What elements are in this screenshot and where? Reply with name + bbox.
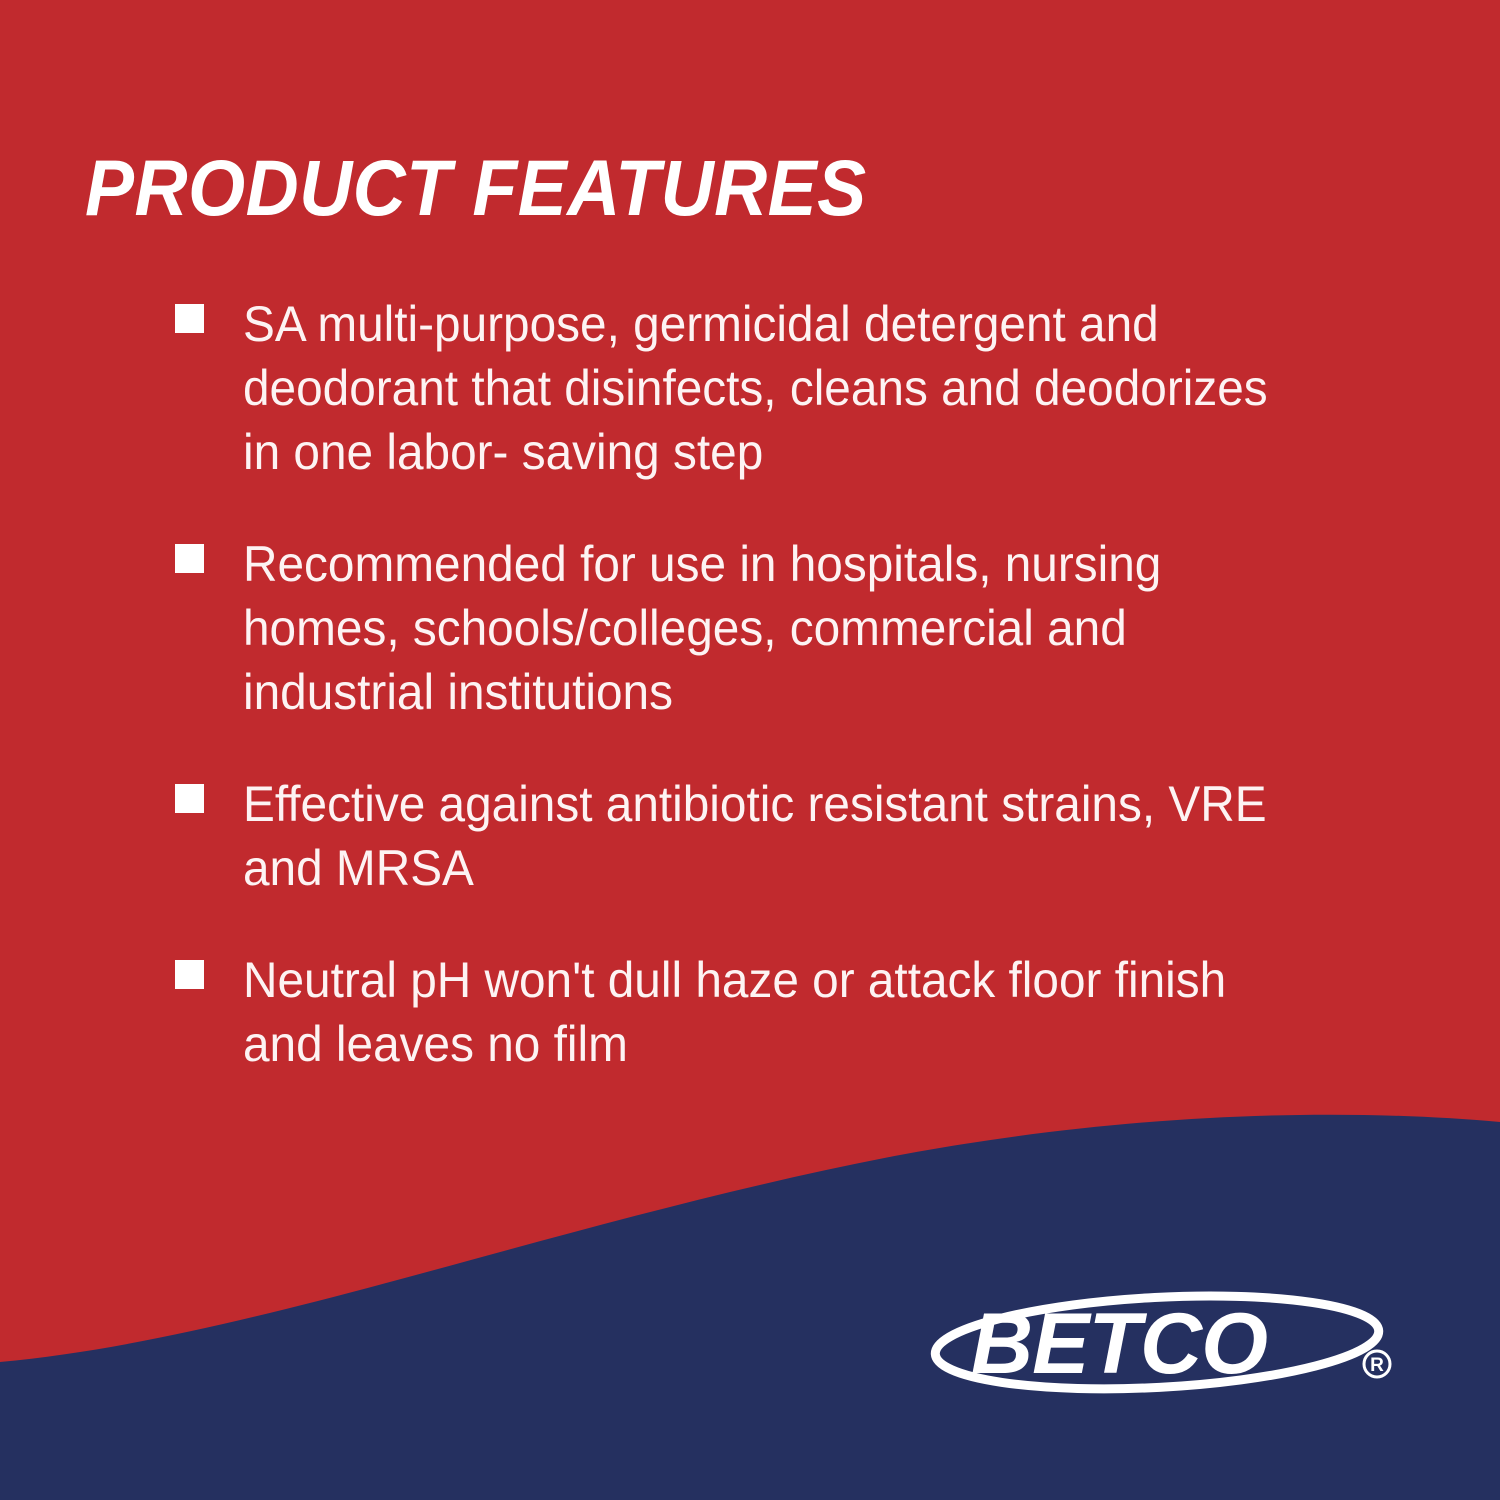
feature-list-item: Effective against antibiotic resistant s…	[175, 772, 1335, 900]
feature-item-text: Effective against antibiotic resistant s…	[243, 772, 1286, 900]
square-bullet-icon	[175, 784, 204, 813]
square-bullet-icon	[175, 544, 204, 573]
feature-item-text: SA multi-purpose, germicidal detergent a…	[243, 292, 1286, 484]
registered-trademark-icon: R	[1364, 1351, 1390, 1377]
feature-item-text: Neutral pH won't dull haze or attack flo…	[243, 948, 1286, 1076]
feature-list-item: Neutral pH won't dull haze or attack flo…	[175, 948, 1335, 1076]
betco-logo: BETCO R	[925, 1285, 1405, 1400]
product-features-card: PRODUCT FEATURES SA multi-purpose, germi…	[0, 0, 1500, 1500]
square-bullet-icon	[175, 304, 204, 333]
feature-list-item: Recommended for use in hospitals, nursin…	[175, 532, 1335, 724]
square-bullet-icon	[175, 960, 204, 989]
feature-item-text: Recommended for use in hospitals, nursin…	[243, 532, 1286, 724]
feature-list-item: SA multi-purpose, germicidal detergent a…	[175, 292, 1335, 484]
page-title: PRODUCT FEATURES	[85, 148, 867, 227]
product-features-list: SA multi-purpose, germicidal detergent a…	[175, 292, 1335, 1076]
logo-wordmark-text: BETCO	[971, 1296, 1267, 1392]
registered-mark-glyph: R	[1370, 1355, 1384, 1376]
